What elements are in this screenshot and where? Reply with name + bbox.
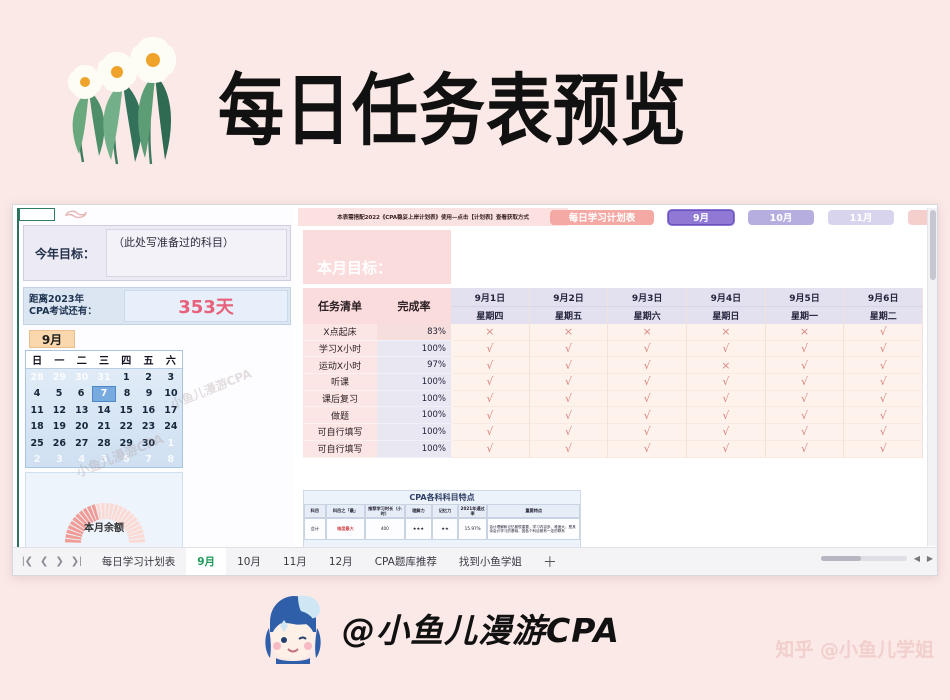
tab-nav-arrow-2[interactable]: ❯	[55, 556, 63, 567]
task-table-header: 任务清单 完成率	[303, 288, 451, 324]
month-button-每日学习计划表[interactable]: 每日学习计划表	[550, 210, 654, 225]
completion-rate-cell: 100%	[377, 374, 451, 391]
calendar-day-5[interactable]: 5	[48, 386, 70, 403]
sheet-tab-11月[interactable]: 11月	[272, 548, 318, 576]
day-column-9月3日[interactable]: 9月3日星期六×√√√√√√√	[608, 288, 687, 458]
task-mark-cell[interactable]: √	[844, 391, 922, 408]
cpa-col-header-1: 科目之「最」	[326, 504, 365, 518]
table-row[interactable]: 学习X小时100%	[303, 341, 451, 358]
day-date-header: 9月2日	[530, 288, 608, 306]
task-mark-cell[interactable]: √	[530, 357, 608, 374]
cpa-cell-2: 400	[365, 518, 404, 540]
calendar-day-9[interactable]: 9	[138, 386, 160, 403]
day-weekday-header: 星期日	[687, 306, 765, 324]
task-name-cell[interactable]: 做题	[303, 407, 377, 424]
col-header-rate: 完成率	[377, 288, 451, 324]
cpa-col-header-4: 记忆力	[432, 504, 458, 518]
task-mark-cell[interactable]: √	[766, 341, 844, 358]
calendar-week-row: 11121314151617	[26, 402, 182, 419]
calendar-day-6[interactable]: 6	[115, 452, 137, 469]
completion-rate-cell: 100%	[377, 407, 451, 424]
tab-nav-arrow-0[interactable]: |❮	[22, 556, 33, 567]
completion-rate-cell: 100%	[377, 441, 451, 458]
calendar-day-31[interactable]: 31	[93, 369, 115, 386]
col-header-task: 任务清单	[303, 288, 377, 324]
task-mark-cell[interactable]: ×	[687, 357, 765, 374]
task-mark-cell[interactable]: √	[766, 374, 844, 391]
task-mark-cell[interactable]: √	[608, 424, 686, 441]
completion-rate-cell: 100%	[377, 341, 451, 358]
calendar-day-11[interactable]: 11	[26, 402, 48, 419]
yearly-goal-box: 今年目标： （此处写准备过的科目）	[23, 225, 291, 281]
calendar-day-17[interactable]: 17	[160, 402, 182, 419]
exam-countdown-value: 353天	[124, 290, 288, 322]
calendar-day-16[interactable]: 16	[137, 402, 159, 419]
task-name-cell[interactable]: 可自行填写	[303, 424, 377, 441]
day-column-9月2日[interactable]: 9月2日星期五×√√√√√√√	[530, 288, 609, 458]
header-banner: 每日任务表预览	[0, 0, 950, 190]
task-mark-cell[interactable]: √	[608, 391, 686, 408]
calendar-weekday-5: 五	[137, 351, 159, 368]
task-mark-cell[interactable]: √	[530, 341, 608, 358]
vertical-scrollbar[interactable]	[927, 208, 937, 546]
sheet-tab-10月[interactable]: 10月	[226, 548, 272, 576]
day-column-9月1日[interactable]: 9月1日星期四×√√√√√√√	[451, 288, 530, 458]
month-button-9月[interactable]: 9月	[668, 210, 734, 225]
active-cell-marker[interactable]	[19, 208, 55, 221]
page-title: 每日任务表预览	[218, 48, 687, 161]
day-column-9月5日[interactable]: 9月5日星期一×√√√√√√√	[766, 288, 845, 458]
monthly-balance-gauge: 本月余额	[25, 472, 183, 549]
day-weekday-header: 星期二	[844, 306, 922, 324]
day-column-9月4日[interactable]: 9月4日星期日×√×√√√√√	[687, 288, 766, 458]
day-weekday-header: 星期六	[608, 306, 686, 324]
ribbon-icon	[63, 209, 89, 221]
calendar-day-10[interactable]: 10	[160, 386, 182, 403]
task-mark-cell[interactable]: √	[687, 341, 765, 358]
calendar-day-3[interactable]: 3	[48, 452, 70, 469]
calendar-day-4[interactable]: 4	[71, 452, 93, 469]
task-mark-cell[interactable]: √	[766, 441, 844, 458]
countdown-label-line1: 距离2023年	[29, 294, 124, 306]
tab-nav-arrow-3[interactable]: ❯|	[71, 556, 82, 567]
task-mark-cell[interactable]: √	[687, 391, 765, 408]
calendar-day-4[interactable]: 4	[26, 386, 48, 403]
task-mark-cell[interactable]: √	[766, 391, 844, 408]
day-column-9月6日[interactable]: 9月6日星期二√√√√√√√√	[844, 288, 923, 458]
table-row[interactable]: 可自行填写100%	[303, 424, 451, 441]
cpa-cell-3: ★★★	[405, 518, 433, 540]
cpa-col-header-6: 重要特点	[487, 504, 580, 518]
calendar-day-22[interactable]: 22	[115, 419, 137, 436]
yearly-goal-input[interactable]: （此处写准备过的科目）	[106, 229, 287, 277]
hscroll-left-arrow[interactable]: ◀	[914, 554, 920, 563]
sheet-canvas[interactable]: 今年目标： （此处写准备过的科目） 距离2023年 CPA考试还有： 353天 …	[13, 205, 938, 549]
calendar-body[interactable]: 2829303112345678910111213141516171819202…	[26, 369, 182, 468]
author-credit: @小鱼儿漫游CPA	[258, 592, 620, 664]
task-mark-cell[interactable]: √	[451, 374, 529, 391]
table-row[interactable]: 运动X小时97%	[303, 357, 451, 374]
cpa-cell-6: 会计理解和记忆都很重要，学习内容多、难度大，是其余会计学习的基础，因各个科目都有…	[487, 518, 580, 540]
cpa-col-header-0: 科目	[304, 504, 326, 518]
cpa-cell-4: ★★	[432, 518, 458, 540]
task-mark-cell[interactable]: √	[687, 424, 765, 441]
cpa-table-row: 会计难度最大400★★★★★15.97%会计理解和记忆都很重要，学习内容多、难度…	[304, 518, 580, 540]
tab-nav-arrows[interactable]: |❮❮❯❯|	[13, 556, 91, 567]
calendar-weekday-0: 日	[26, 351, 48, 368]
calendar-weekday-2: 二	[71, 351, 93, 368]
gauge-label: 本月余额	[26, 519, 182, 534]
day-weekday-header: 星期五	[530, 306, 608, 324]
calendar-day-30[interactable]: 30	[71, 369, 93, 386]
month-button-10月[interactable]: 10月	[748, 210, 814, 225]
calendar-day-1[interactable]: 1	[115, 369, 137, 386]
calendar-day-26[interactable]: 26	[48, 435, 70, 452]
calendar-day-21[interactable]: 21	[93, 419, 115, 436]
notice-strip: 本表需搭配2022《CPA稳妥上岸计划表》使用—点击【计划表】查看获取方式	[298, 208, 568, 226]
calendar-week-row: 2526272829301	[26, 435, 182, 452]
day-date-header: 9月3日	[608, 288, 686, 306]
calendar-day-18[interactable]: 18	[26, 419, 48, 436]
calendar-day-7[interactable]: 7	[137, 452, 159, 469]
task-name-cell[interactable]: 学习X小时	[303, 341, 377, 358]
day-date-header: 9月5日	[766, 288, 844, 306]
day-weekday-header: 星期四	[451, 306, 529, 324]
task-mark-cell[interactable]: √	[844, 424, 922, 441]
calendar-weekday-1: 一	[48, 351, 70, 368]
daily-task-table[interactable]: 任务清单 完成率 X点起床83%学习X小时100%运动X小时97%听课100%课…	[303, 288, 923, 458]
calendar-day-28[interactable]: 28	[26, 369, 48, 386]
sheet-tab-CPA题库推荐[interactable]: CPA题库推荐	[364, 548, 448, 576]
cpa-col-header-3: 理解力	[405, 504, 433, 518]
task-mark-cell[interactable]: √	[608, 441, 686, 458]
calendar-week-row: 2345678	[26, 452, 182, 469]
exam-countdown-box: 距离2023年 CPA考试还有： 353天	[23, 287, 291, 325]
task-table-left: 任务清单 完成率 X点起床83%学习X小时100%运动X小时97%听课100%课…	[303, 288, 451, 458]
yearly-goal-label: 今年目标：	[24, 226, 106, 280]
calendar-day-13[interactable]: 13	[71, 402, 93, 419]
avatar-icon	[258, 592, 328, 664]
task-mark-cell[interactable]: ×	[530, 324, 608, 341]
task-table-days[interactable]: 9月1日星期四×√√√√√√√9月2日星期五×√√√√√√√9月3日星期六×√√…	[451, 288, 923, 458]
task-mark-cell[interactable]: √	[530, 374, 608, 391]
calendar-day-25[interactable]: 25	[26, 435, 48, 452]
task-mark-cell[interactable]: √	[766, 357, 844, 374]
task-mark-cell[interactable]: √	[687, 407, 765, 424]
sheet-tab-每日学习计划表[interactable]: 每日学习计划表	[91, 548, 187, 576]
cpa-cell-1: 难度最大	[326, 518, 365, 540]
day-weekday-header: 星期一	[766, 306, 844, 324]
task-name-cell[interactable]: 课后复习	[303, 391, 377, 408]
countdown-label-line2: CPA考试还有：	[29, 306, 124, 318]
task-mark-cell[interactable]: ×	[687, 324, 765, 341]
task-name-cell[interactable]: X点起床	[303, 324, 377, 341]
task-name-cell[interactable]: 听课	[303, 374, 377, 391]
calendar-day-29[interactable]: 29	[115, 435, 137, 452]
calendar-day-12[interactable]: 12	[48, 402, 70, 419]
add-sheet-button[interactable]: ＋	[533, 552, 567, 572]
author-name: @小鱼儿漫游CPA	[342, 604, 620, 652]
calendar-day-29[interactable]: 29	[48, 369, 70, 386]
calendar-day-7[interactable]: 7	[92, 386, 116, 403]
calendar-weekday-header: 日一二三四五六	[26, 351, 182, 369]
sheet-tab-bar[interactable]: |❮❮❯❯| 每日学习计划表9月10月11月12月CPA题库推荐找到小鱼学姐 ＋…	[13, 547, 938, 575]
vertical-scrollbar-thumb[interactable]	[930, 210, 936, 280]
month-button-group[interactable]: 每日学习计划表9月10月11月12月	[550, 209, 938, 225]
table-row[interactable]: X点起床83%	[303, 324, 451, 341]
sheet-tab-12月[interactable]: 12月	[318, 548, 364, 576]
task-mark-cell[interactable]: √	[608, 357, 686, 374]
task-mark-cell[interactable]: ×	[451, 324, 529, 341]
calendar-day-1[interactable]: 1	[160, 435, 182, 452]
calendar-day-5[interactable]: 5	[93, 452, 115, 469]
task-mark-cell[interactable]: √	[844, 341, 922, 358]
completion-rate-cell: 97%	[377, 357, 451, 374]
calendar-weekday-4: 四	[115, 351, 137, 368]
cpa-table-header: 科目科目之「最」推荐学习时长（小时）理解力记忆力2021年通过率重要特点	[304, 504, 580, 518]
flowers-icon	[55, 22, 195, 167]
completion-rate-cell: 83%	[377, 324, 451, 341]
task-mark-cell[interactable]: √	[451, 341, 529, 358]
left-pane: 今年目标： （此处写准备过的科目） 距离2023年 CPA考试还有： 353天 …	[17, 208, 294, 548]
right-pane: 本表需搭配2022《CPA稳妥上岸计划表》使用—点击【计划表】查看获取方式 每日…	[298, 208, 923, 548]
calendar-week-row: 45678910	[26, 386, 182, 403]
task-mark-cell[interactable]: √	[451, 407, 529, 424]
task-mark-cell[interactable]: √	[608, 341, 686, 358]
calendar-weekday-6: 六	[160, 351, 182, 368]
task-mark-cell[interactable]: √	[844, 441, 922, 458]
task-mark-cell[interactable]: √	[451, 391, 529, 408]
spreadsheet-window: 今年目标： （此处写准备过的科目） 距离2023年 CPA考试还有： 353天 …	[12, 204, 938, 576]
task-mark-cell[interactable]: √	[530, 441, 608, 458]
task-mark-cell[interactable]: √	[451, 357, 529, 374]
cpa-cell-5: 15.97%	[458, 518, 488, 540]
task-mark-cell[interactable]: √	[451, 441, 529, 458]
cpa-subject-table[interactable]: CPA各科科目特点 科目科目之「最」推荐学习时长（小时）理解力记忆力2021年通…	[303, 490, 581, 548]
completion-rate-cell: 100%	[377, 391, 451, 408]
calendar-day-27[interactable]: 27	[71, 435, 93, 452]
sheet-tabs[interactable]: 每日学习计划表9月10月11月12月CPA题库推荐找到小鱼学姐	[91, 548, 533, 576]
calendar-day-6[interactable]: 6	[70, 386, 92, 403]
gauge-chart	[26, 473, 183, 549]
hscroll-thumb[interactable]	[821, 556, 861, 561]
hscroll-right-arrow[interactable]: ▶	[927, 554, 933, 563]
calendar-day-20[interactable]: 20	[71, 419, 93, 436]
task-mark-cell[interactable]: √	[844, 407, 922, 424]
cpa-col-header-5: 2021年通过率	[458, 504, 488, 518]
calendar-day-24[interactable]: 24	[160, 419, 182, 436]
footer: @小鱼儿漫游CPA 知乎 @小鱼儿学姐	[0, 580, 950, 700]
completion-rate-cell: 100%	[377, 424, 451, 441]
calendar-weekday-3: 三	[93, 351, 115, 368]
task-name-cell[interactable]: 可自行填写	[303, 441, 377, 458]
calendar-day-2[interactable]: 2	[26, 452, 48, 469]
day-date-header: 9月1日	[451, 288, 529, 306]
table-row[interactable]: 课后复习100%	[303, 391, 451, 408]
task-mark-cell[interactable]: √	[530, 424, 608, 441]
monthly-target-box[interactable]: 本月目标：	[303, 230, 451, 284]
cpa-table-title: CPA各科科目特点	[304, 491, 580, 504]
day-date-header: 9月4日	[687, 288, 765, 306]
calendar-day-2[interactable]: 2	[137, 369, 159, 386]
calendar-day-15[interactable]: 15	[115, 402, 137, 419]
task-mark-cell[interactable]: √	[451, 424, 529, 441]
table-row[interactable]: 听课100%	[303, 374, 451, 391]
calendar-day-23[interactable]: 23	[137, 419, 159, 436]
exam-countdown-label: 距离2023年 CPA考试还有：	[24, 288, 124, 324]
task-mark-cell[interactable]: √	[766, 424, 844, 441]
table-row[interactable]: 做题100%	[303, 407, 451, 424]
cpa-col-header-2: 推荐学习时长（小时）	[365, 504, 404, 518]
zhihu-watermark: 知乎 @小鱼儿学姐	[775, 635, 934, 662]
task-name-cell[interactable]: 运动X小时	[303, 357, 377, 374]
task-mark-cell[interactable]: ×	[766, 324, 844, 341]
month-button-11月[interactable]: 11月	[828, 210, 894, 225]
table-row[interactable]: 可自行填写100%	[303, 441, 451, 458]
calendar-week-row: 28293031123	[26, 369, 182, 386]
task-mark-cell[interactable]: √	[687, 441, 765, 458]
calendar-day-14[interactable]: 14	[93, 402, 115, 419]
task-mark-cell[interactable]: √	[844, 324, 922, 341]
cpa-cell-0: 会计	[304, 518, 326, 540]
sheet-tab-找到小鱼学姐[interactable]: 找到小鱼学姐	[448, 548, 533, 576]
task-mark-cell[interactable]: √	[530, 407, 608, 424]
cpa-table-body: 会计难度最大400★★★★★15.97%会计理解和记忆都很重要，学习内容多、难度…	[304, 518, 580, 540]
task-mark-cell[interactable]: √	[530, 391, 608, 408]
calendar-day-28[interactable]: 28	[93, 435, 115, 452]
tab-nav-arrow-1[interactable]: ❮	[40, 556, 48, 567]
horizontal-scrollbar[interactable]: ◀ ▶	[821, 554, 933, 563]
task-mark-cell[interactable]: √	[844, 357, 922, 374]
task-mark-cell[interactable]: √	[687, 374, 765, 391]
sheet-tab-9月[interactable]: 9月	[186, 548, 226, 576]
calendar-day-3[interactable]: 3	[160, 369, 182, 386]
calendar-day-8[interactable]: 8	[116, 386, 138, 403]
task-mark-cell[interactable]: ×	[608, 324, 686, 341]
task-name-rows[interactable]: X点起床83%学习X小时100%运动X小时97%听课100%课后复习100%做题…	[303, 324, 451, 458]
calendar-week-row: 18192021222324	[26, 419, 182, 436]
calendar-widget[interactable]: 日一二三四五六 28293031123456789101112131415161…	[25, 350, 183, 468]
calendar-day-8[interactable]: 8	[160, 452, 182, 469]
task-mark-cell[interactable]: √	[608, 374, 686, 391]
calendar-day-30[interactable]: 30	[137, 435, 159, 452]
task-mark-cell[interactable]: √	[766, 407, 844, 424]
task-mark-cell[interactable]: √	[844, 374, 922, 391]
calendar-day-19[interactable]: 19	[48, 419, 70, 436]
task-mark-cell[interactable]: √	[608, 407, 686, 424]
day-date-header: 9月6日	[844, 288, 922, 306]
calendar-month-chip[interactable]: 9月	[29, 330, 75, 348]
